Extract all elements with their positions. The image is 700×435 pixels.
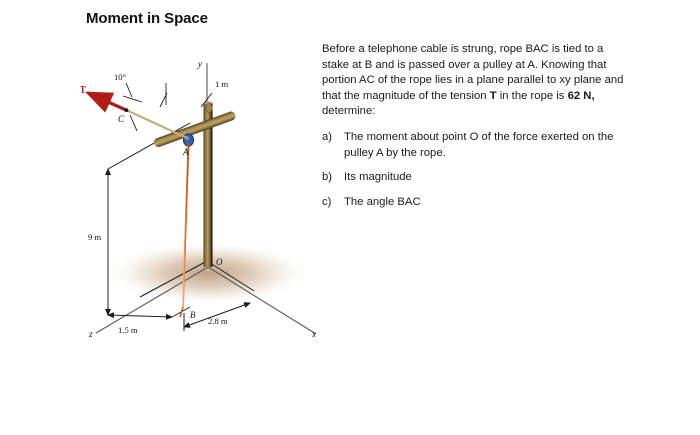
cross-arm: [153, 103, 237, 148]
tension-force-arrow: [88, 93, 128, 112]
label-pole-height: 9 m: [88, 232, 101, 242]
label-point-a: A: [182, 147, 189, 157]
question-marker-c: c): [322, 195, 344, 211]
tension-symbol: T: [490, 90, 497, 102]
figure-panel: T 10° C A O B y x z 1 m 9 m 1.5 m 2.8 m: [80, 45, 320, 350]
question-text-b: Its magnitude: [344, 170, 627, 186]
question-item-b: b) Its magnitude: [322, 170, 627, 186]
tension-value: 62 N,: [568, 90, 595, 102]
label-tension: T: [80, 85, 86, 96]
telephone-pole-rope-diagram: T 10° C A O B y x z 1 m 9 m 1.5 m 2.8 m: [80, 45, 320, 350]
question-text-a: The moment about point O of the force ex…: [344, 130, 627, 161]
question-item-a: a) The moment about point O of the force…: [322, 130, 627, 161]
label-stake-offset: 1.5 m: [118, 325, 138, 335]
label-axis-z: z: [88, 329, 93, 339]
label-point-c: C: [118, 114, 125, 124]
problem-text-panel: Before a telephone cable is strung, rope…: [322, 42, 627, 219]
question-item-c: c) The angle BAC: [322, 195, 627, 211]
question-marker-a: a): [322, 130, 344, 161]
label-axis-x: x: [311, 329, 316, 339]
statement-tail: determine:: [322, 105, 375, 117]
label-base-offset: 2.8 m: [208, 316, 228, 326]
label-angle: 10°: [114, 72, 127, 82]
angle-leader: [123, 83, 167, 131]
question-text-c: The angle BAC: [344, 195, 627, 211]
statement-middle: in the rope is: [497, 90, 568, 102]
problem-statement: Before a telephone cable is strung, rope…: [322, 42, 627, 120]
question-list: a) The moment about point O of the force…: [322, 130, 627, 210]
label-axis-y: y: [197, 59, 202, 69]
page-title: Moment in Space: [86, 10, 208, 27]
label-point-b: B: [190, 310, 196, 320]
label-crossarm-length: 1 m: [215, 79, 228, 89]
label-point-o: O: [216, 257, 223, 267]
question-marker-b: b): [322, 170, 344, 186]
